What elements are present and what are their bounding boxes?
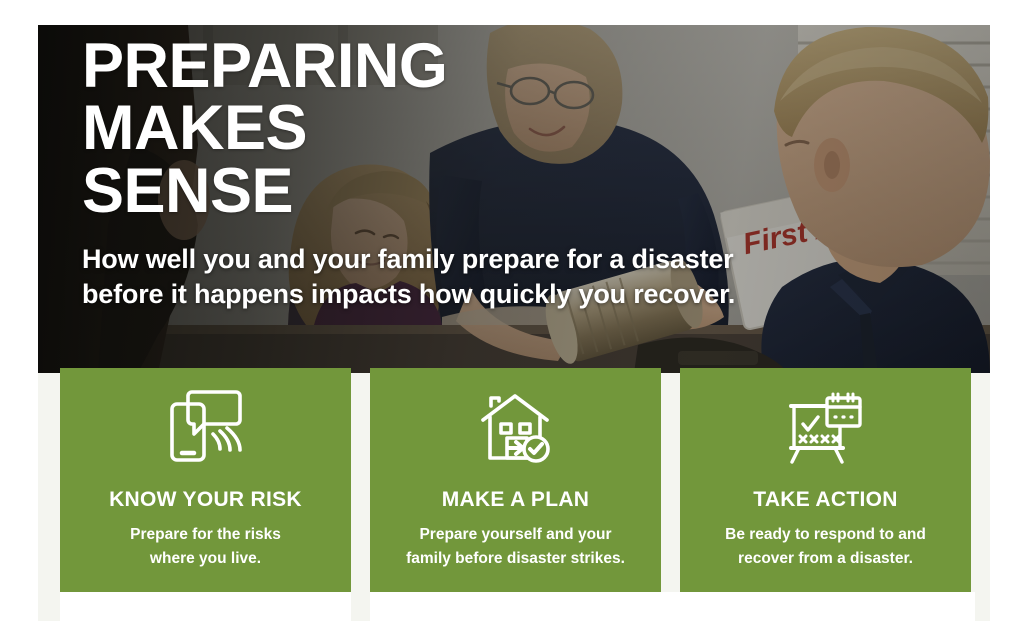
page-title-line-2: MAKES bbox=[82, 97, 842, 159]
card-description: Prepare yourself and your family before … bbox=[396, 523, 636, 572]
page-subtitle-line-1: How well you and your family prepare for… bbox=[82, 242, 802, 277]
card-make-a-plan[interactable]: MAKE A PLAN Prepare yourself and your fa… bbox=[370, 368, 661, 592]
card-title: KNOW YOUR RISK bbox=[109, 488, 302, 512]
card-title: MAKE A PLAN bbox=[442, 488, 590, 512]
checklist-board-calendar-icon bbox=[780, 384, 872, 472]
page-title-line-1: PREPARING bbox=[82, 35, 842, 97]
page-root: First Aid bbox=[0, 0, 1012, 621]
card-description-line-2: where you live. bbox=[150, 550, 261, 567]
card-description-line-1: Prepare for the risks bbox=[130, 526, 281, 543]
card-description-line-1: Be ready to respond to and bbox=[725, 526, 926, 543]
page-title-line-3: SENSE bbox=[82, 160, 842, 222]
next-section-strip-right bbox=[370, 592, 975, 621]
mobile-alert-icon bbox=[160, 384, 252, 472]
card-description-line-2: recover from a disaster. bbox=[738, 550, 913, 567]
hero-text-block: PREPARING MAKES SENSE How well you and y… bbox=[82, 35, 842, 312]
house-exit-plan-icon bbox=[470, 384, 562, 472]
page-subtitle: How well you and your family prepare for… bbox=[82, 242, 802, 312]
page-title: PREPARING MAKES SENSE bbox=[82, 35, 842, 222]
page-subtitle-line-2: before it happens impacts how quickly yo… bbox=[82, 277, 802, 312]
card-description-line-1: Prepare yourself and your bbox=[419, 526, 611, 543]
card-description-line-2: family before disaster strikes. bbox=[406, 550, 625, 567]
feature-card-row: KNOW YOUR RISK Prepare for the risks whe… bbox=[60, 368, 975, 592]
card-description: Be ready to respond to and recover from … bbox=[706, 523, 946, 572]
next-section-strip-left bbox=[60, 592, 351, 621]
card-title: TAKE ACTION bbox=[753, 488, 897, 512]
card-know-your-risk[interactable]: KNOW YOUR RISK Prepare for the risks whe… bbox=[60, 368, 351, 592]
hero-banner: First Aid bbox=[38, 25, 990, 373]
card-description: Prepare for the risks where you live. bbox=[86, 523, 326, 572]
card-take-action[interactable]: TAKE ACTION Be ready to respond to and r… bbox=[680, 368, 971, 592]
